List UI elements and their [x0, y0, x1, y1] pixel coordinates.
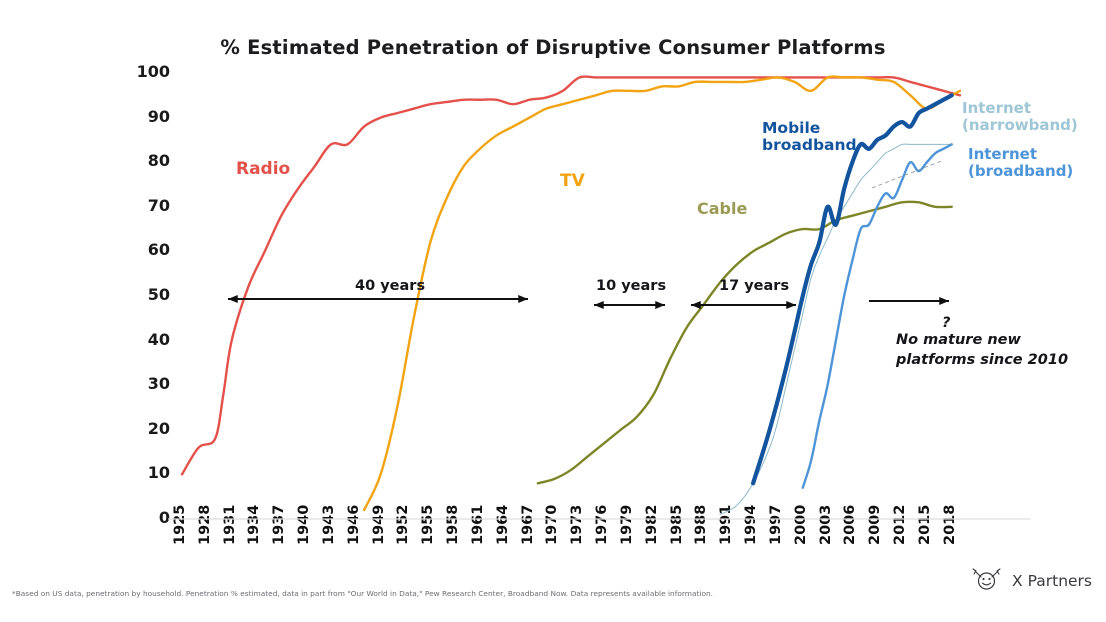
series-label-line: Cable — [697, 200, 747, 218]
series-label-line: Mobile — [762, 120, 857, 137]
annotation-label-span-17-years: 17 years — [719, 278, 789, 294]
annotation-label-line: 40 years — [355, 278, 425, 294]
series-label-internet: Internet(broadband) — [968, 146, 1073, 180]
arrow-head — [594, 301, 604, 309]
annotation-label-span-10-years: 10 years — [596, 278, 666, 294]
arrow-head — [518, 295, 528, 303]
series-label-line: Internet — [962, 100, 1078, 117]
annotation-label-no-mature-note: No mature newplatforms since 2010 — [896, 331, 1068, 370]
brand-logo: X Partners — [971, 568, 1092, 594]
series-label-radio: Radio — [236, 160, 290, 179]
chart-root: % Estimated Penetration of Disruptive Co… — [0, 0, 1106, 622]
annotation-label-line: No mature new — [896, 331, 1068, 351]
footnote: *Based on US data, penetration by househ… — [12, 588, 772, 599]
series-label-tv: TV — [560, 172, 585, 191]
annotation-arrows — [0, 0, 1106, 622]
arrow-head — [228, 295, 238, 303]
annotation-label-line: 17 years — [719, 278, 789, 294]
series-label-line: TV — [560, 172, 585, 191]
arrow-head — [939, 297, 949, 305]
series-label-cable: Cable — [697, 200, 747, 218]
series-label-internet: Internet(narrowband) — [962, 100, 1078, 134]
series-label-mobile: Mobilebroadband — [762, 120, 857, 155]
series-label-line: Internet — [968, 146, 1073, 163]
brand-name: X Partners — [1012, 572, 1092, 590]
smiley-person-icon — [971, 568, 1005, 594]
annotation-label-span-40-years: 40 years — [355, 278, 425, 294]
annotation-label-line: platforms since 2010 — [896, 351, 1068, 371]
series-label-line: Radio — [236, 160, 290, 179]
arrow-head — [655, 301, 665, 309]
series-label-line: (narrowband) — [962, 117, 1078, 134]
series-label-line: (broadband) — [968, 163, 1073, 180]
arrow-head — [691, 301, 701, 309]
arrow-head — [786, 301, 796, 309]
annotation-label-line: 10 years — [596, 278, 666, 294]
series-label-line: broadband — [762, 137, 857, 154]
